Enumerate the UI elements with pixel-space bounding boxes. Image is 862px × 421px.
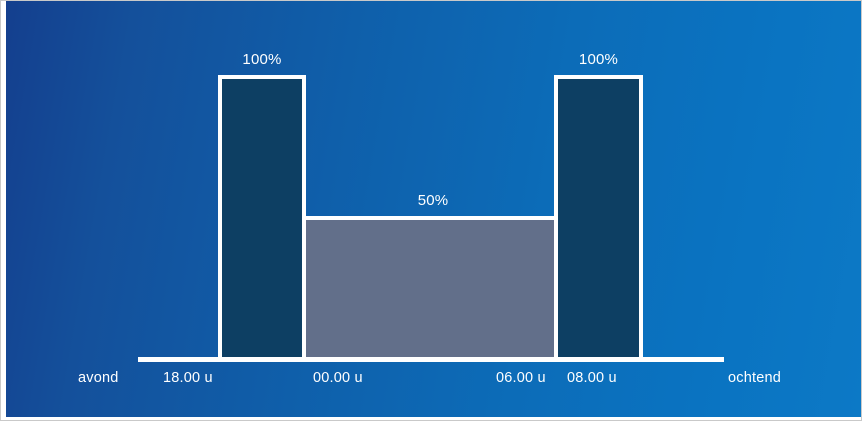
- axis-label-0000: 00.00 u: [313, 370, 363, 386]
- bar-value-label-evening: 100%: [218, 51, 306, 68]
- bar-evening[interactable]: [218, 75, 306, 359]
- bar-night[interactable]: [306, 216, 560, 359]
- axis-label-ochtend: ochtend: [728, 370, 781, 386]
- chart-plot-area: 100% 50% 100% avond 18.00 u 00.00 u 06.0…: [6, 1, 861, 417]
- bar-value-label-night: 50%: [306, 192, 560, 209]
- chart-figure: 100% 50% 100% avond 18.00 u 00.00 u 06.0…: [0, 0, 862, 421]
- bar-value-label-morning: 100%: [554, 51, 643, 68]
- axis-label-avond: avond: [78, 370, 119, 386]
- x-axis-line: [138, 357, 724, 362]
- bar-morning[interactable]: [554, 75, 643, 359]
- axis-label-0800: 08.00 u: [567, 370, 617, 386]
- axis-label-0600: 06.00 u: [496, 370, 546, 386]
- axis-label-1800: 18.00 u: [163, 370, 213, 386]
